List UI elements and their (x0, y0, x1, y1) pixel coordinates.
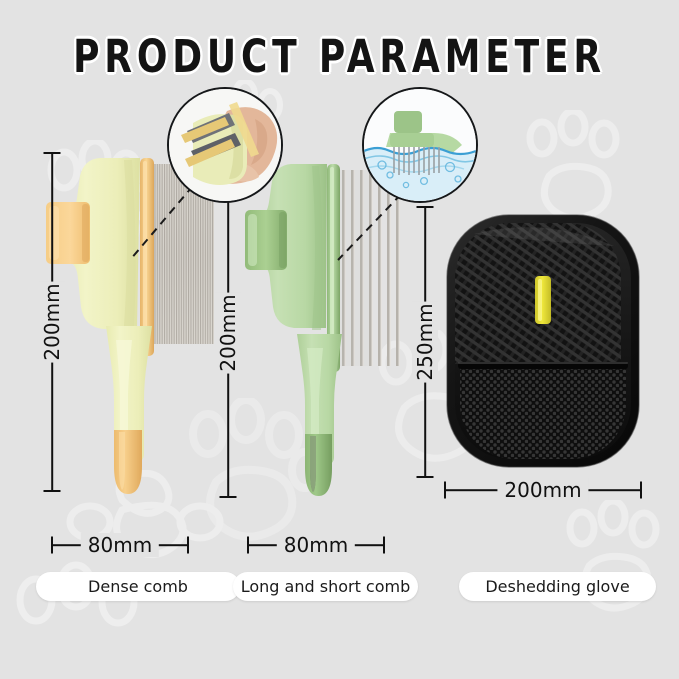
dimension-cap-bottom (417, 476, 434, 478)
dimension-cap-bottom (220, 496, 237, 498)
callout-comb-washing-in-water (362, 87, 478, 203)
dimension-cap-right (640, 482, 642, 499)
dimension-cap-left (247, 537, 249, 554)
label-text: Dense comb (88, 577, 188, 596)
dimension-cap-top (44, 152, 61, 154)
dimension-label: 80mm (277, 533, 355, 557)
callout-comb-head-in-hand (167, 87, 283, 203)
dimension-label: 200mm (39, 281, 65, 362)
dimension-label: 250mm (412, 301, 438, 382)
dimension-cap-top (417, 206, 434, 208)
product-deshedding-glove (444, 212, 642, 470)
dimension-glove-height: 250mm (413, 206, 437, 478)
dimension-label: 200mm (215, 292, 241, 373)
label-text: Deshedding glove (485, 577, 629, 596)
dimension-long-short-comb-height: 200mm (216, 168, 240, 498)
dimension-long-short-comb-width: 80mm (247, 536, 385, 554)
dimension-glove-width: 200mm (444, 481, 642, 499)
dimension-dense-comb-width: 80mm (51, 536, 189, 554)
dimension-cap-right (383, 537, 385, 554)
dimension-label: 80mm (81, 533, 159, 557)
dimension-cap-left (51, 537, 53, 554)
label-long-short-comb: Long and short comb (233, 572, 418, 601)
label-text: Long and short comb (241, 577, 411, 596)
label-dense-comb: Dense comb (36, 572, 240, 601)
dimension-cap-left (444, 482, 446, 499)
paw-print-icon (520, 110, 630, 224)
page-title: PRODUCT PARAMETER (68, 30, 611, 83)
dimension-label: 200mm (497, 478, 588, 502)
label-deshedding-glove: Deshedding glove (459, 572, 656, 601)
dimension-cap-right (187, 537, 189, 554)
dimension-dense-comb-height: 200mm (40, 152, 64, 492)
dimension-cap-bottom (44, 490, 61, 492)
infographic-canvas: PRODUCT PARAMETER (0, 0, 679, 679)
